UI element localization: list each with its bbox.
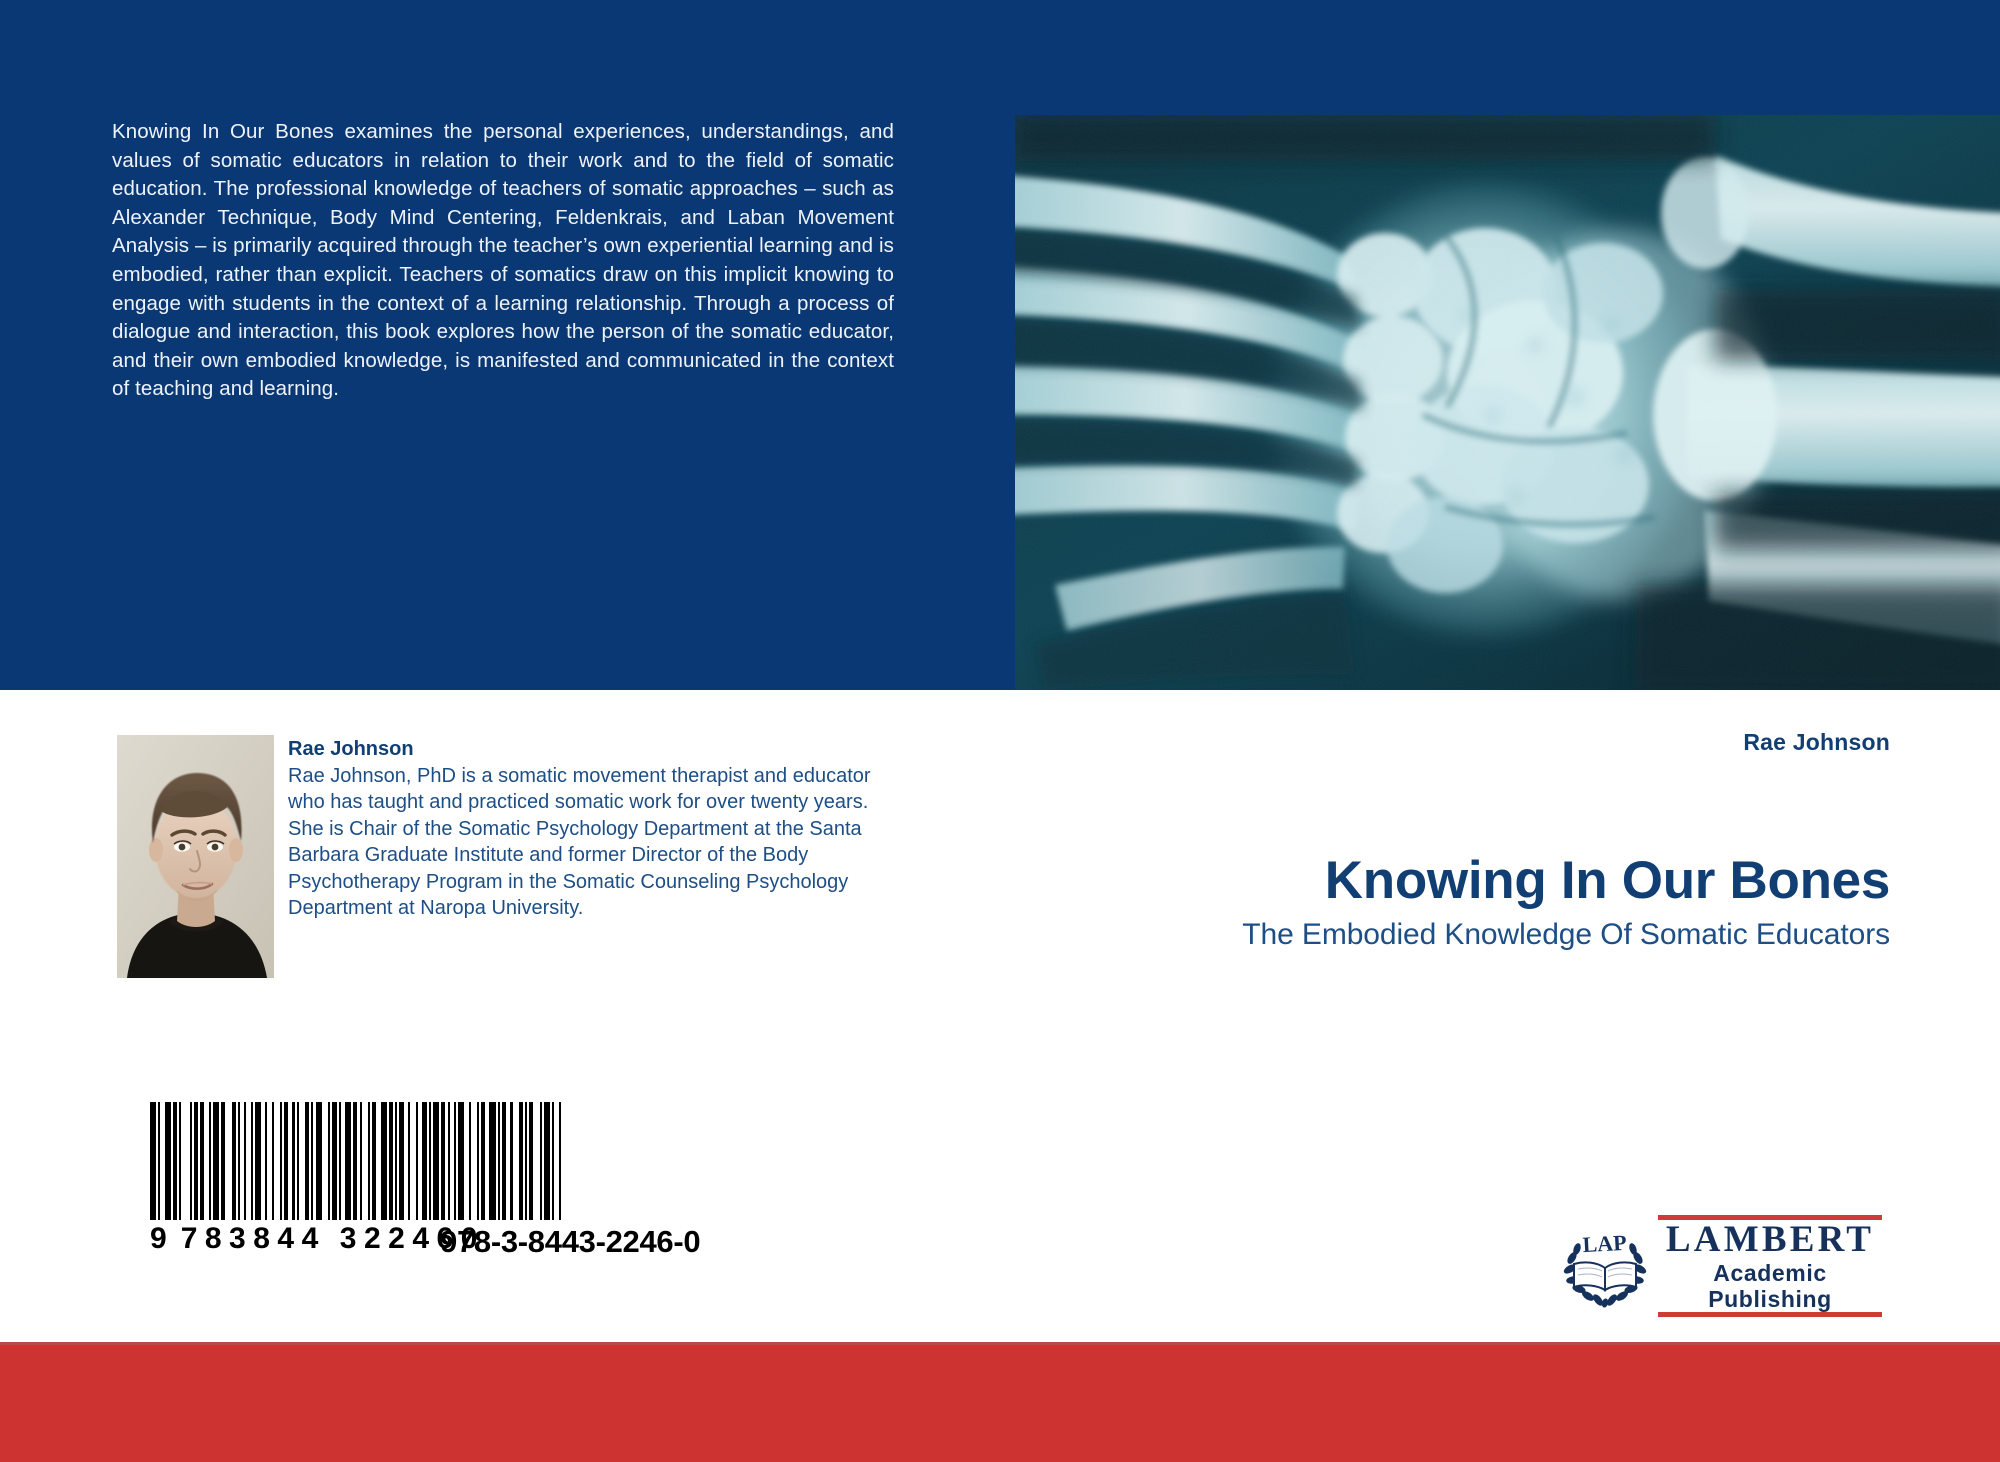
publisher-logo: LAP LAMBERT Academic Publishing <box>1562 1222 1882 1310</box>
barcode-bar <box>181 1102 189 1220</box>
publisher-name: LAMBERT <box>1658 1220 1882 1260</box>
publisher-tagline: Academic Publishing <box>1658 1260 1882 1312</box>
author-portrait-illustration <box>117 735 274 978</box>
logo-rule-bottom <box>1658 1312 1882 1317</box>
back-cover-blurb: Knowing In Our Bones examines the person… <box>112 118 894 404</box>
front-cover-subtitle: The Embodied Knowledge Of Somatic Educat… <box>1242 918 1890 952</box>
book-cover: Knowing In Our Bones examines the person… <box>0 0 2000 1462</box>
lap-emblem: LAP <box>1562 1224 1648 1308</box>
red-band-highlight <box>0 1342 2000 1345</box>
author-description: Rae Johnson, PhD is a somatic movement t… <box>288 763 907 921</box>
barcode-bars <box>150 1102 563 1220</box>
publisher-wordmark: LAMBERT Academic Publishing <box>1658 1212 1882 1320</box>
barcode-bar <box>561 1102 563 1220</box>
author-name: Rae Johnson <box>288 736 907 762</box>
isbn-number: 978-3-8443-2246-0 <box>440 1224 700 1260</box>
front-cover-xray-image <box>1015 115 2000 690</box>
author-bio-block: Rae Johnson Rae Johnson, PhD is a somati… <box>117 735 907 978</box>
lap-book-wreath-icon: LAP <box>1562 1224 1648 1308</box>
xray-illustration <box>1015 115 2000 690</box>
avatar <box>117 735 274 978</box>
author-bio-text: Rae Johnson Rae Johnson, PhD is a somati… <box>288 735 907 921</box>
svg-text:LAP: LAP <box>1582 1230 1627 1257</box>
barcode-left-group: 783844 <box>181 1222 326 1256</box>
page-title: Knowing In Our Bones <box>1325 850 1890 911</box>
front-cover-author: Rae Johnson <box>1743 729 1890 756</box>
bottom-red-band <box>0 1342 2000 1462</box>
barcode-lead-digit: 9 <box>150 1222 167 1256</box>
